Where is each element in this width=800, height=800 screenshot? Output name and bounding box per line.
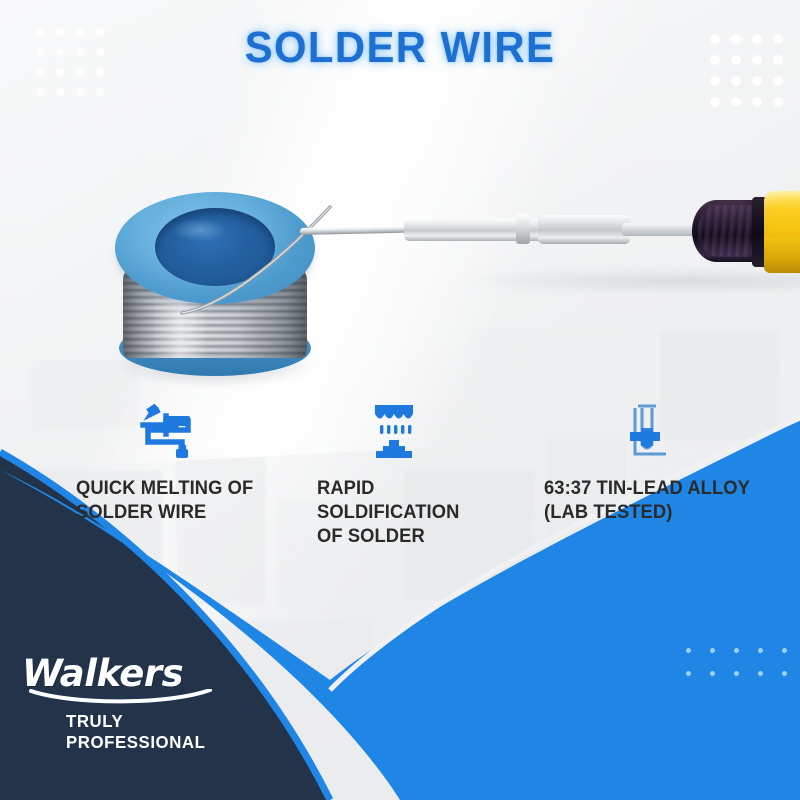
iron-tip	[300, 225, 420, 235]
page-title: SOLDER WIRE	[20, 26, 780, 70]
iron-shaft-rear	[538, 215, 630, 244]
iron-chuck-grooves	[698, 205, 758, 257]
feature-label: QUICK MELTING OF SOLDER WIRE	[76, 476, 291, 524]
brand-logo: Walkers TRULY PROFESSIONAL	[22, 655, 272, 753]
solder-cooling-drip-icon	[317, 398, 515, 462]
brand-tagline: TRULY PROFESSIONAL	[66, 711, 264, 753]
product-marketing-image: SOLDER WIRE	[0, 0, 800, 800]
dot-grid-swoosh	[686, 648, 800, 694]
feature-item-quick-melting: QUICK MELTING OF SOLDER WIRE	[0, 398, 305, 538]
soldering-iron	[300, 185, 800, 295]
logo-swoosh	[28, 689, 218, 705]
feature-list: QUICK MELTING OF SOLDER WIRE RA	[0, 398, 800, 538]
brand-name: Walkers	[22, 655, 272, 692]
feature-label: RAPID SOLDIFICATION OF SOLDER	[317, 476, 503, 549]
test-tube-lab-icon	[544, 398, 800, 462]
feature-label: 63:37 TIN-LEAD ALLOY (LAB TESTED)	[544, 476, 785, 524]
soldering-iron-wire-icon	[76, 398, 305, 462]
iron-shadow	[450, 269, 800, 293]
product-photo-group	[0, 150, 800, 420]
feature-item-tin-lead-alloy: 63:37 TIN-LEAD ALLOY (LAB TESTED)	[516, 398, 800, 538]
iron-shaft-ring	[516, 214, 530, 244]
iron-handle-lip	[764, 237, 800, 273]
feature-item-rapid-solidification: RAPID SOLDIFICATION OF SOLDER	[305, 398, 515, 538]
